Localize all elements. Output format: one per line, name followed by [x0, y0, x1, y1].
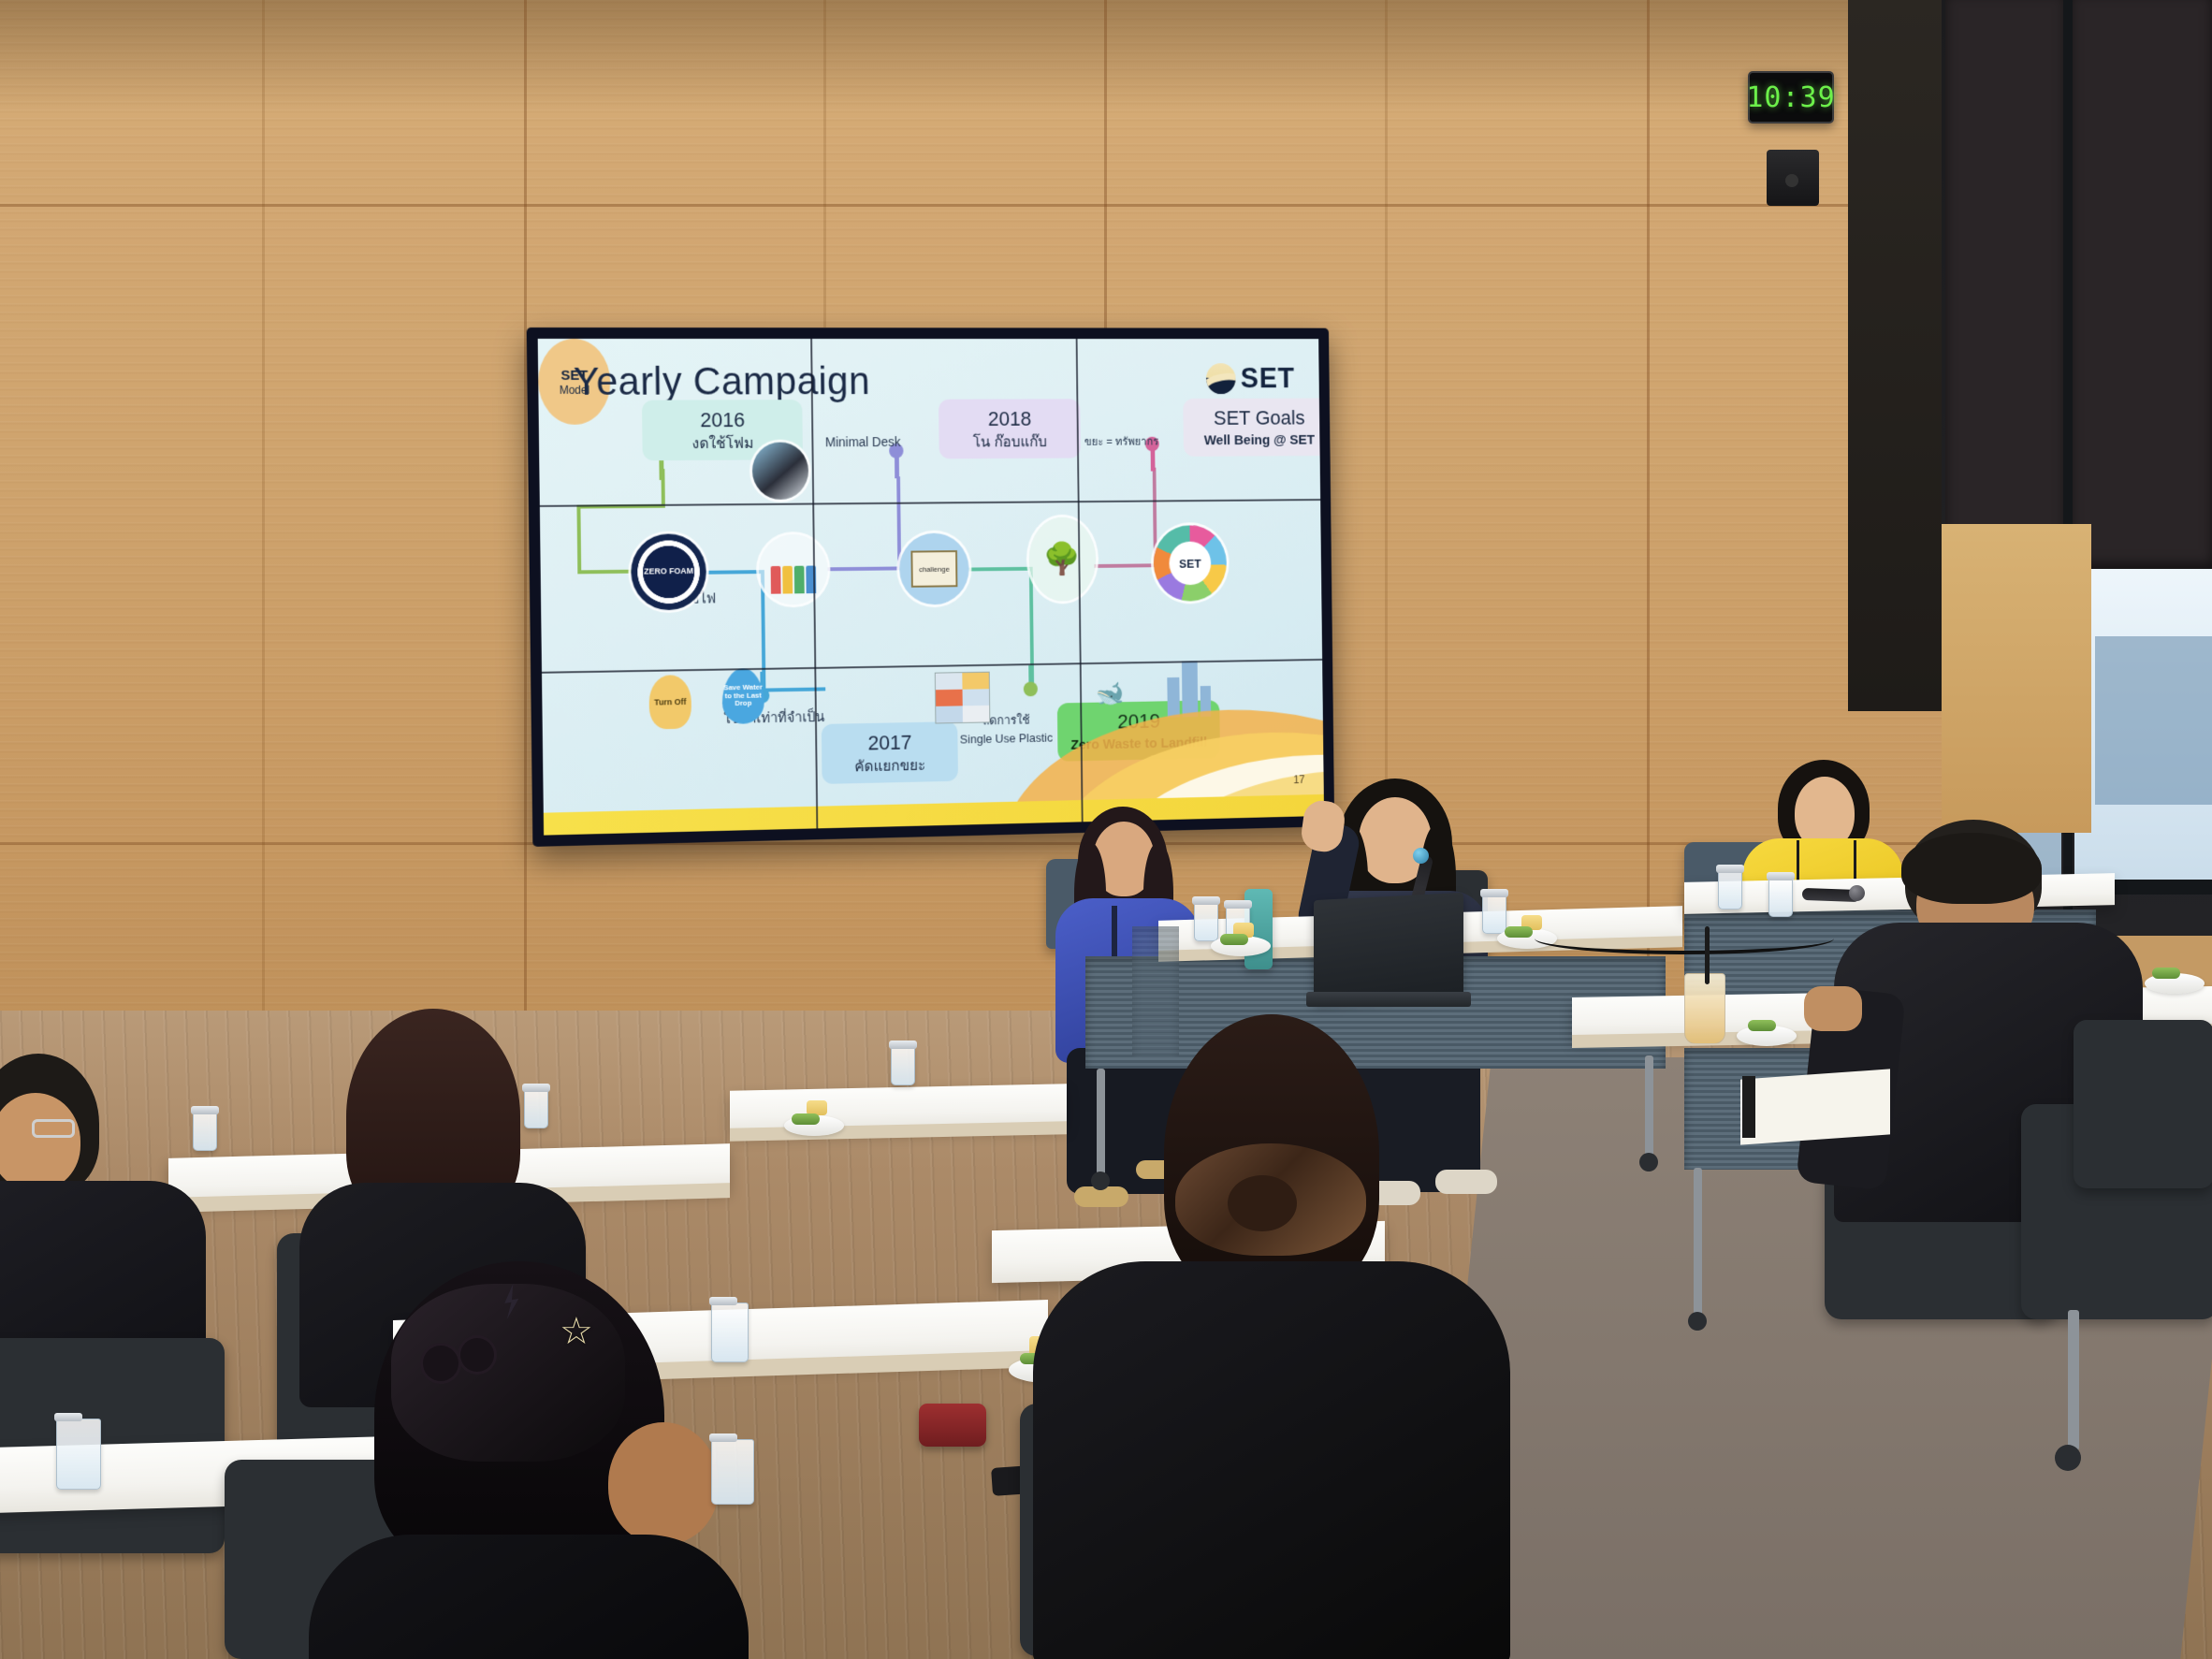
table-caster: [1688, 1312, 1707, 1331]
milestone-2017[interactable]: 2017 คัดแยกขยะ: [822, 721, 958, 784]
green-globe-icon: 🌳: [1028, 517, 1096, 602]
label-minimal-desk: Minimal Desk: [813, 434, 912, 449]
clock-time: 10:39: [1746, 81, 1835, 114]
lidded-water-glass-icon[interactable]: [56, 1419, 101, 1490]
laptop-base: [1306, 992, 1471, 1007]
turn-off-bulb-icon: Turn Off: [648, 675, 691, 729]
chair-leg: [2068, 1310, 2079, 1450]
milestone-year: SET Goals: [1195, 404, 1323, 431]
lidded-water-glass-icon[interactable]: [1482, 895, 1506, 934]
head-profile: [608, 1422, 719, 1544]
cable: [1535, 923, 1834, 954]
wall-seam: [0, 842, 1956, 845]
minimal-desk-photo-icon: [752, 442, 809, 500]
milestone-subtitle: โน ก๊อบแก๊บ: [952, 432, 1069, 453]
single-use-plastic-poster-icon: [935, 672, 991, 724]
rosette: [423, 1346, 458, 1381]
hand: [1804, 986, 1862, 1031]
wall-seam: [1647, 0, 1650, 1048]
table-leg: [1645, 1055, 1653, 1158]
red-eyeglass-case-icon[interactable]: [919, 1404, 986, 1447]
table-caster: [1639, 1153, 1658, 1171]
save-water-drop-icon: Save Water to the Last Drop: [722, 668, 764, 724]
save-water-text: Save Water to the Last Drop: [722, 683, 764, 708]
wall-seam: [0, 204, 1956, 207]
wall-speaker-icon: [1767, 150, 1819, 206]
challenge-icon: challenge: [899, 532, 969, 604]
milestone-2018[interactable]: 2018 โน ก๊อบแก๊บ: [939, 399, 1081, 458]
turn-off-text: Turn Off: [654, 697, 686, 706]
building-outside: [2095, 636, 2212, 805]
garnish: [792, 1113, 820, 1125]
presentation-slide: Yearly Campaign SET: [538, 339, 1324, 836]
lidded-water-glass-icon[interactable]: [891, 1046, 915, 1085]
suit-jacket: [1033, 1261, 1510, 1659]
window-blind[interactable]: [1945, 0, 2065, 588]
lidded-water-glass-icon[interactable]: [524, 1089, 548, 1128]
milestone-set-goals[interactable]: SET Goals Well Being @ SET: [1183, 399, 1324, 457]
drink-straw: [1705, 926, 1710, 984]
wall-seam: [262, 0, 265, 1048]
set-community-icon: SET: [1153, 525, 1227, 602]
star-hair-clip-icon: ☆: [560, 1310, 593, 1353]
head: [0, 1093, 80, 1190]
table-leg: [1694, 1168, 1702, 1317]
milestone-year: 2018: [951, 405, 1068, 432]
garnish: [2152, 968, 2180, 979]
notebook-spine: [1742, 1076, 1755, 1138]
suit-jacket: [309, 1535, 749, 1659]
garnish: [1505, 926, 1533, 938]
milestone-year: 2017: [834, 728, 945, 758]
display-bezel: Yearly Campaign SET: [527, 327, 1335, 847]
slide-bottom-bar: [544, 794, 1324, 836]
notebook[interactable]: [1740, 1069, 1890, 1144]
slide-page-number: 17: [1293, 773, 1304, 786]
shoe: [1435, 1170, 1497, 1194]
milestone-year: 2016: [655, 406, 790, 434]
laptop-icon[interactable]: [1314, 893, 1463, 1003]
wall-seam: [823, 0, 826, 327]
set-logo-text: SET: [1241, 362, 1296, 395]
microphone-head: [1413, 848, 1429, 864]
lidded-water-glass-icon[interactable]: [1194, 902, 1218, 941]
lidded-water-glass-icon[interactable]: [193, 1112, 217, 1151]
hair-top: [1901, 833, 2042, 904]
recycling-bins-icon: [759, 534, 828, 605]
table-caster: [1091, 1171, 1110, 1190]
chair[interactable]: [2074, 1020, 2212, 1188]
set-logo-mark: [1206, 363, 1236, 394]
eyeglasses-icon: [32, 1119, 75, 1138]
rosette: [460, 1338, 494, 1372]
label-waste-equals-resource: ขยะ = ทรัพยากร: [1073, 433, 1170, 451]
zero-foam-text: ZERO FOAM: [644, 567, 693, 576]
garnish: [1220, 934, 1248, 945]
window-glass: [2074, 561, 2212, 889]
chair-caster: [2055, 1445, 2081, 1471]
milestone-subtitle: คัดแยกขยะ: [835, 755, 946, 778]
challenge-label: challenge: [910, 550, 957, 588]
milestone-subtitle: Well Being @ SET: [1196, 431, 1323, 450]
lidded-water-glass-icon[interactable]: [711, 1439, 754, 1505]
table-leg: [1097, 1069, 1105, 1177]
garnish: [1748, 1020, 1776, 1031]
wall-seam: [524, 0, 527, 1048]
wall-panel-beside-window: [1942, 524, 2091, 833]
bow-knot: [1228, 1175, 1297, 1231]
window-blind[interactable]: [2071, 0, 2212, 569]
video-wall-display[interactable]: Yearly Campaign SET: [527, 327, 1335, 847]
table-side-panel: [1132, 926, 1179, 1057]
set-logo-icon: SET: [1206, 362, 1296, 395]
lidded-water-glass-icon[interactable]: [1768, 878, 1793, 917]
table-microphone-head: [1849, 885, 1865, 901]
slide-title: Yearly Campaign: [574, 359, 871, 404]
display-tile-seam: [540, 499, 1320, 507]
set-community-text: SET: [1169, 541, 1211, 585]
lidded-water-glass-icon[interactable]: [711, 1302, 749, 1362]
lidded-water-glass-icon[interactable]: [1718, 870, 1742, 910]
meeting-room-photo: 10:39 Yearly Campaign SET: [0, 0, 2212, 1659]
ceiling-shadow: [0, 0, 1956, 112]
wall-clock: 10:39: [1748, 71, 1834, 124]
